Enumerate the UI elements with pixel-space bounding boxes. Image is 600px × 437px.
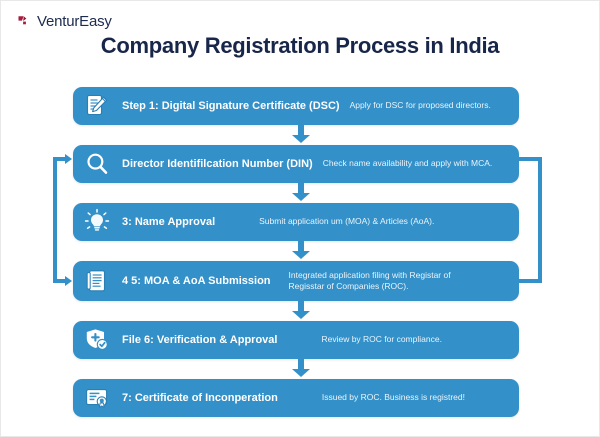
magnifier-icon [80, 147, 114, 181]
document-pencil-icon [80, 89, 114, 123]
flow-step-desc: Submit application um (MOA) & Articles (… [259, 216, 434, 227]
flow-step-desc: Apply for DSC for proposed directors. [350, 100, 491, 111]
flow-diagram: Step 1: Digital Signature Certificate (D… [1, 85, 600, 425]
flow-step-desc: Integrated application filing with Regis… [289, 270, 484, 293]
page-title: Company Registration Process in India [1, 33, 599, 59]
left-bracket-spine [53, 157, 57, 283]
right-bracket-spine [538, 157, 542, 283]
venturesay-diamond-mark-icon [17, 14, 33, 30]
flow-step-din[interactable]: Director Identifilcation Number (DIN) Ch… [73, 145, 519, 183]
document-lines-icon [80, 264, 114, 298]
connector-arrowhead-5 [292, 369, 310, 377]
lightbulb-icon [80, 205, 114, 239]
flowchart-page: VenturEasy Company Registration Process … [0, 0, 600, 437]
brand-name: VenturEasy [37, 13, 112, 30]
brand-logo: VenturEasy [17, 13, 112, 30]
flow-step-desc: Issued by ROC. Business is registred! [322, 392, 465, 403]
flow-step-title: Director Identifilcation Number (DIN) [118, 158, 313, 170]
right-bracket-bottom-stub [519, 279, 542, 283]
connector-arrowhead-2 [292, 193, 310, 201]
flow-step-title: 4 5: MOA & AoA Submission [118, 275, 271, 287]
connector-arrowhead-4 [292, 311, 310, 319]
right-bracket-top-stub [519, 157, 542, 161]
flow-step-desc: Review by ROC for compliance. [321, 334, 441, 345]
flow-step-desc: Check name availability and apply with M… [323, 158, 493, 169]
flow-step-title: 7: Certificate of Inconperation [118, 392, 278, 404]
flow-step-moa-aoa[interactable]: 4 5: MOA & AoA Submission Integrated app… [73, 261, 519, 301]
shield-check-icon [80, 323, 114, 357]
flow-step-title: File 6: Verification & Approval [118, 334, 277, 346]
certificate-seal-icon [80, 381, 114, 415]
left-bracket-top-arrowhead [65, 154, 72, 164]
flow-step-verification[interactable]: File 6: Verification & Approval Review b… [73, 321, 519, 359]
connector-arrowhead-3 [292, 251, 310, 259]
connector-arrowhead-1 [292, 135, 310, 143]
flow-step-name-approval[interactable]: 3: Name Approval Submit application um (… [73, 203, 519, 241]
flow-step-title: Step 1: Digital Signature Certificate (D… [118, 100, 340, 112]
flow-step-dsc[interactable]: Step 1: Digital Signature Certificate (D… [73, 87, 519, 125]
flow-step-certificate[interactable]: 7: Certificate of Inconperation Issued b… [73, 379, 519, 417]
flow-step-title: 3: Name Approval [118, 216, 215, 228]
left-bracket-bottom-arrowhead [65, 276, 72, 286]
